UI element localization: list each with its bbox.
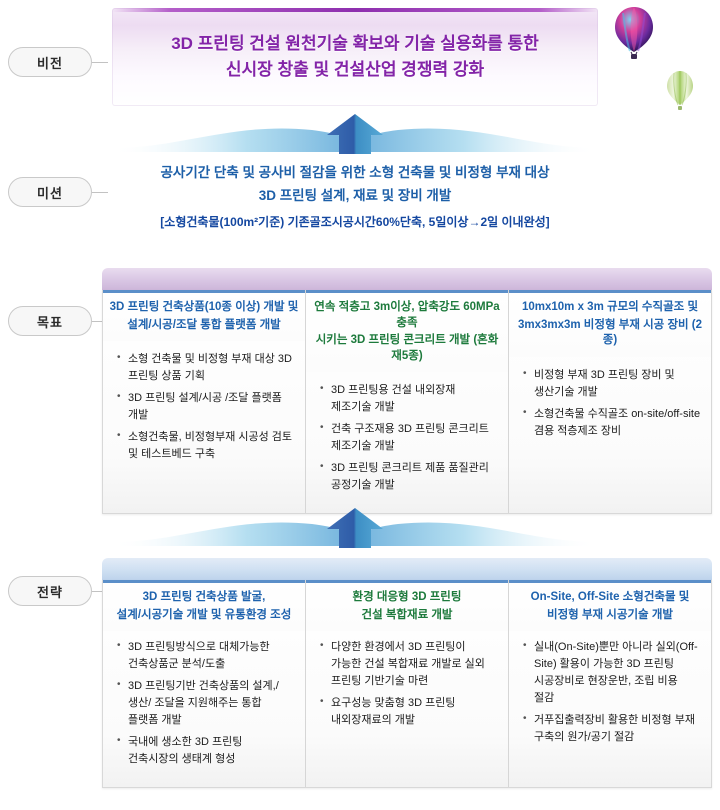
vision-banner: 3D 프린팅 건설 원천기술 확보와 기술 실용화를 통한 신시장 창출 및 건…	[112, 8, 598, 106]
list-item: 소형건축물 수직골조 on-site/off-site 겸용 적층제조 장비	[523, 406, 701, 440]
rail-connector-vision	[92, 62, 108, 63]
strategy-column-3-header-line-2: 비정형 부재 시공기술 개발	[515, 608, 705, 624]
up-arrow-goal-icon	[112, 502, 598, 554]
strategy-column-3-header-line-1: On-Site, Off-Site 소형건축물 및	[515, 590, 705, 606]
goal-column-2-list: 3D 프린팅용 건설 내외장재 제조기술 개발 건축 구조재용 3D 프린팅 콘…	[306, 372, 508, 513]
strategy-column-3: On-Site, Off-Site 소형건축물 및 비정형 부재 시공기술 개발…	[509, 580, 711, 787]
goal-column-2-header-line-2: 시키는 3D 프린팅 콘크리트 개발 (혼화재5종)	[312, 333, 502, 364]
goal-column-2: 연속 적층고 3m이상, 압축강도 60MPa 충족 시키는 3D 프린팅 콘크…	[306, 290, 509, 513]
goal-column-2-header: 연속 적층고 3m이상, 압축강도 60MPa 충족 시키는 3D 프린팅 콘크…	[306, 290, 508, 372]
goal-column-1-header-line-1: 3D 프린팅 건축상품(10종 이상) 개발 및	[109, 300, 299, 316]
list-item: 소형 건축물 및 비정형 부재 대상 3D 프린팅 상품 기획	[117, 351, 295, 385]
strategy-column-1: 3D 프린팅 건축상품 발굴, 설계/시공기술 개발 및 유통환경 조성 3D …	[103, 580, 306, 787]
vision-line-1: 3D 프린팅 건설 원천기술 확보와 기술 실용화를 통한	[171, 31, 539, 57]
list-item: 3D 프린팅방식으로 대체가능한 건축상품군 분석/도출	[117, 639, 295, 673]
list-item: 3D 프린팅용 건설 내외장재 제조기술 개발	[320, 382, 498, 416]
rail-connector-mission	[92, 192, 108, 193]
goal-column-3-header-line-1: 10mx10m x 3m 규모의 수직골조 및	[515, 300, 705, 316]
hot-air-balloon-large-icon	[613, 5, 655, 63]
vision-line-2: 신시장 창출 및 건설산업 경쟁력 강화	[226, 57, 484, 83]
list-item: 3D 프린팅 설계/시공 /조달 플랫폼 개발	[117, 390, 295, 424]
list-item: 실내(On-Site)뿐만 아니라 실외(Off-Site) 활용이 가능한 3…	[523, 639, 701, 707]
goal-panel-cap	[102, 268, 712, 290]
strategy-column-1-header: 3D 프린팅 건축상품 발굴, 설계/시공기술 개발 및 유통환경 조성	[103, 580, 305, 631]
list-item: 거푸집출력장비 활용한 비정형 부재 구축의 원가/공기 절감	[523, 712, 701, 746]
strategy-column-3-list: 실내(On-Site)뿐만 아니라 실외(Off-Site) 활용이 가능한 3…	[509, 631, 711, 787]
mission-note: [소형건축물(100m²기준) 기존골조시공시간60%단축, 5일이상→2일 이…	[160, 213, 549, 230]
strategy-column-1-header-line-2: 설계/시공기술 개발 및 유통환경 조성	[109, 608, 299, 624]
strategy-panel: 3D 프린팅 건축상품 발굴, 설계/시공기술 개발 및 유통환경 조성 3D …	[102, 558, 712, 788]
list-item: 소형건축물, 비정형부재 시공성 검토 및 테스트베드 구축	[117, 429, 295, 463]
goal-column-3-header-line-2: 3mx3mx3m 비정형 부재 시공 장비 (2종)	[515, 318, 705, 349]
hot-air-balloon-small-icon	[665, 70, 695, 112]
rail-label-goal: 목표	[8, 306, 92, 336]
strategy-column-2-header-line-1: 환경 대응형 3D 프린팅	[312, 590, 502, 606]
strategy-panel-cap	[102, 558, 712, 580]
up-arrow-vision-icon	[112, 108, 598, 160]
list-item: 국내에 생소한 3D 프린팅 건축시장의 생태계 형성	[117, 734, 295, 768]
goal-column-3-header: 10mx10m x 3m 규모의 수직골조 및 3mx3mx3m 비정형 부재 …	[509, 290, 711, 357]
list-item: 요구성능 맞춤형 3D 프린팅 내외장재료의 개발	[320, 695, 498, 729]
strategy-column-1-header-line-1: 3D 프린팅 건축상품 발굴,	[109, 590, 299, 606]
list-item: 비정형 부재 3D 프린팅 장비 및 생산기술 개발	[523, 367, 701, 401]
goal-column-3-list: 비정형 부재 3D 프린팅 장비 및 생산기술 개발 소형건축물 수직골조 on…	[509, 357, 711, 514]
strategy-column-2-list: 다양한 환경에서 3D 프린팅이 가능한 건설 복합재료 개발로 실외 프린팅 …	[306, 631, 508, 787]
goal-column-1-header-line-2: 설계/시공/조달 통합 플랫폼 개발	[109, 318, 299, 334]
strategy-column-2: 환경 대응형 3D 프린팅 건설 복합재료 개발 다양한 환경에서 3D 프린팅…	[306, 580, 509, 787]
goal-column-1-list: 소형 건축물 및 비정형 부재 대상 3D 프린팅 상품 기획 3D 프린팅 설…	[103, 341, 305, 513]
goal-columns: 3D 프린팅 건축상품(10종 이상) 개발 및 설계/시공/조달 통합 플랫폼…	[102, 290, 712, 514]
strategy-column-2-header: 환경 대응형 3D 프린팅 건설 복합재료 개발	[306, 580, 508, 631]
goal-column-3: 10mx10m x 3m 규모의 수직골조 및 3mx3mx3m 비정형 부재 …	[509, 290, 711, 513]
mission-line-1: 공사기간 단축 및 공사비 절감을 위한 소형 건축물 및 비정형 부재 대상	[160, 162, 549, 185]
list-item: 건축 구조재용 3D 프린팅 콘크리트 제조기술 개발	[320, 421, 498, 455]
mission-line-2: 3D 프린팅 설계, 재료 및 장비 개발	[259, 185, 452, 208]
mission-block: 공사기간 단축 및 공사비 절감을 위한 소형 건축물 및 비정형 부재 대상 …	[112, 162, 598, 230]
strategy-columns: 3D 프린팅 건축상품 발굴, 설계/시공기술 개발 및 유통환경 조성 3D …	[102, 580, 712, 788]
list-item: 다양한 환경에서 3D 프린팅이 가능한 건설 복합재료 개발로 실외 프린팅 …	[320, 639, 498, 690]
rail-label-strategy: 전략	[8, 576, 92, 606]
rail-label-mission: 미션	[8, 177, 92, 207]
strategy-column-3-header: On-Site, Off-Site 소형건축물 및 비정형 부재 시공기술 개발	[509, 580, 711, 631]
goal-column-1-header: 3D 프린팅 건축상품(10종 이상) 개발 및 설계/시공/조달 통합 플랫폼…	[103, 290, 305, 341]
goal-column-1: 3D 프린팅 건축상품(10종 이상) 개발 및 설계/시공/조달 통합 플랫폼…	[103, 290, 306, 513]
list-item: 3D 프린팅 콘크리트 제품 품질관리 공정기술 개발	[320, 460, 498, 494]
goal-column-2-header-line-1: 연속 적층고 3m이상, 압축강도 60MPa 충족	[312, 300, 502, 331]
goal-panel: 3D 프린팅 건축상품(10종 이상) 개발 및 설계/시공/조달 통합 플랫폼…	[102, 268, 712, 514]
strategy-column-2-header-line-2: 건설 복합재료 개발	[312, 608, 502, 624]
strategy-column-1-list: 3D 프린팅방식으로 대체가능한 건축상품군 분석/도출 3D 프린팅기반 건축…	[103, 631, 305, 787]
rail-label-vision: 비전	[8, 47, 92, 77]
list-item: 3D 프린팅기반 건축상품의 설계,/생산/ 조달을 지원해주는 통합 플랫폼 …	[117, 678, 295, 729]
